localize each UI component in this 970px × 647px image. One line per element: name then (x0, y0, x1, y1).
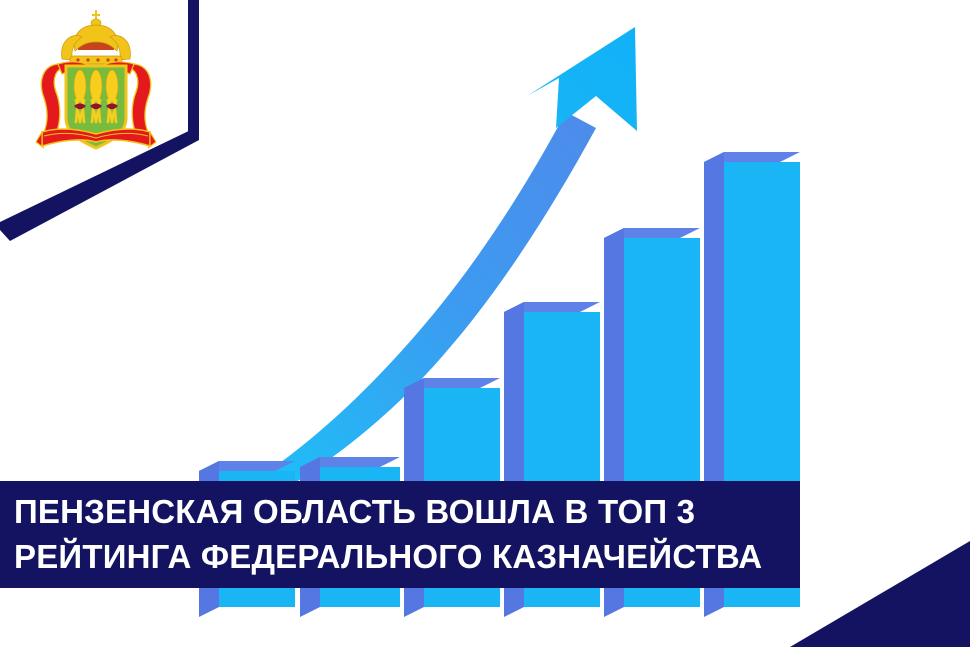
poster-canvas: ПЕНЗЕНСКАЯ ОБЛАСТЬ ВОШЛА В ТОП 3 РЕЙТИНГ… (0, 0, 970, 647)
headline-line-1: ПЕНЗЕНСКАЯ ОБЛАСТЬ ВОШЛА В ТОП 3 (14, 489, 800, 534)
headline-line-2: РЕЙТИНГА ФЕДЕРАЛЬНОГО КАЗНАЧЕЙСТВА (14, 534, 800, 579)
trend-arrow-icon (249, 27, 637, 500)
penza-oblast-coat-of-arms (22, 6, 172, 166)
headline-banner: ПЕНЗЕНСКАЯ ОБЛАСТЬ ВОШЛА В ТОП 3 РЕЙТИНГ… (0, 481, 800, 588)
navy-wedge-decoration (770, 517, 970, 647)
crown-icon (62, 10, 131, 64)
